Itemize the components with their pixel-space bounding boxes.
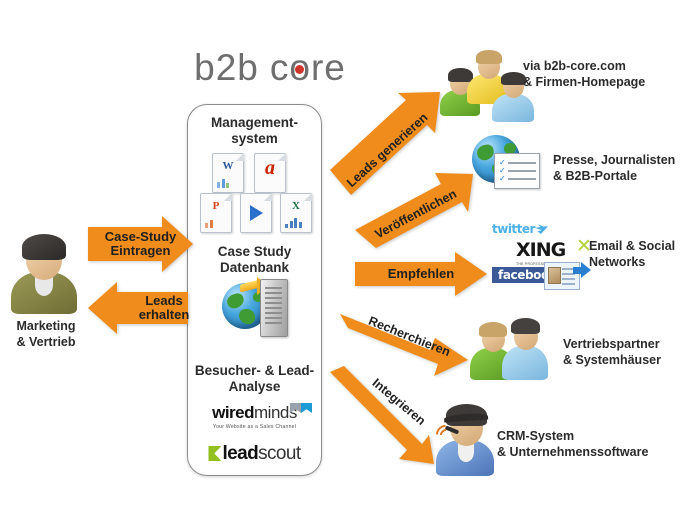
logo-red-dot-icon [295, 65, 304, 74]
logo-text-core: core [270, 47, 346, 89]
two-people-icon [470, 318, 550, 380]
twitter-wordmark: twitter [492, 222, 535, 236]
output-label-partners: Vertriebspartner & Systemhäuser [563, 336, 661, 368]
acrobat-document-icon: a [254, 153, 286, 193]
content-type-icons: W a P X [200, 153, 310, 231]
wiredminds-logo: wiredminds Your Website as a Sales Chann… [188, 403, 321, 430]
output-label-social: Email & Social Networks [589, 238, 675, 270]
logo-core-c: c [270, 47, 290, 88]
powerpoint-document-icon: P [200, 193, 232, 233]
flow-integrieren: Integrieren [330, 348, 448, 466]
three-people-icon [440, 50, 536, 112]
leadscout-bold: lead [222, 443, 258, 464]
xing-wordmark: XING [516, 239, 565, 261]
logo-core-re: re [311, 47, 346, 88]
word-document-thumb [217, 177, 229, 188]
person-icon [8, 232, 80, 314]
twitter-logo: twitter [492, 222, 548, 236]
panel-heading-analysis: Besucher- & Lead-Analyse [188, 363, 321, 395]
excel-document-glyph: X [281, 200, 311, 212]
excel-document-icon: X [280, 193, 312, 233]
panel-heading-database: Case Study Datenbank [188, 244, 321, 276]
flow-leads-erhalten: Leads erhalten [88, 282, 188, 334]
word-document-glyph: W [213, 160, 243, 172]
social-logos: twitter XING ✕ THE PROFESSIONAL NETWORK … [492, 222, 600, 286]
powerpoint-document-thumb [205, 217, 213, 228]
panel-heading-management: Management- system [188, 115, 321, 147]
b2b-core-logo: b2b core [170, 46, 370, 90]
leadscout-logo: leadscout [188, 443, 321, 465]
flow-case-study-eintragen: Case-Study Eintragen [88, 216, 193, 272]
acrobat-document-glyph: a [255, 157, 285, 180]
excel-document-chart [285, 217, 302, 228]
actor-label: Marketing & Vertrieb [0, 318, 92, 350]
play-icon [250, 205, 263, 221]
globe-checklist-icon: ✓ ✓ ✓ [470, 135, 542, 191]
flow-veroeffentlichen: Veröffentlichen [355, 168, 477, 254]
flow-empfehlen: Empfehlen [355, 252, 487, 296]
output-label-crm: CRM-System & Unternehmenssoftware [497, 428, 648, 460]
leadscout-light: scout [258, 443, 300, 464]
output-label-press: Presse, Journalisten & B2B-Portale [553, 152, 675, 184]
wiredminds-bold: wired [212, 403, 254, 422]
headset-agent-icon [432, 404, 502, 476]
globe-server-icon [222, 277, 292, 339]
contact-export-icon [544, 262, 580, 290]
wiredminds-flag-icon [290, 400, 312, 418]
video-document-icon [240, 193, 272, 233]
server-tower-icon [260, 279, 288, 337]
b2b-core-platform-panel: Management- system W a P X Case Study Da… [187, 104, 322, 476]
leadscout-mark-icon [208, 446, 221, 461]
powerpoint-document-glyph: P [201, 200, 231, 212]
logo-text-b2b: b2b [194, 47, 259, 89]
twitter-bird-icon [535, 224, 548, 234]
diagram-canvas: b2b core Management- system W a P [0, 0, 690, 518]
word-document-icon: W [212, 153, 244, 193]
checklist-document-icon: ✓ ✓ ✓ [494, 153, 540, 189]
wiredminds-tagline: Your Website as a Sales Channel [188, 424, 321, 430]
audio-wave-icon [434, 424, 448, 440]
output-label-web: via b2b-core.com & Firmen-Homepage [523, 58, 645, 90]
